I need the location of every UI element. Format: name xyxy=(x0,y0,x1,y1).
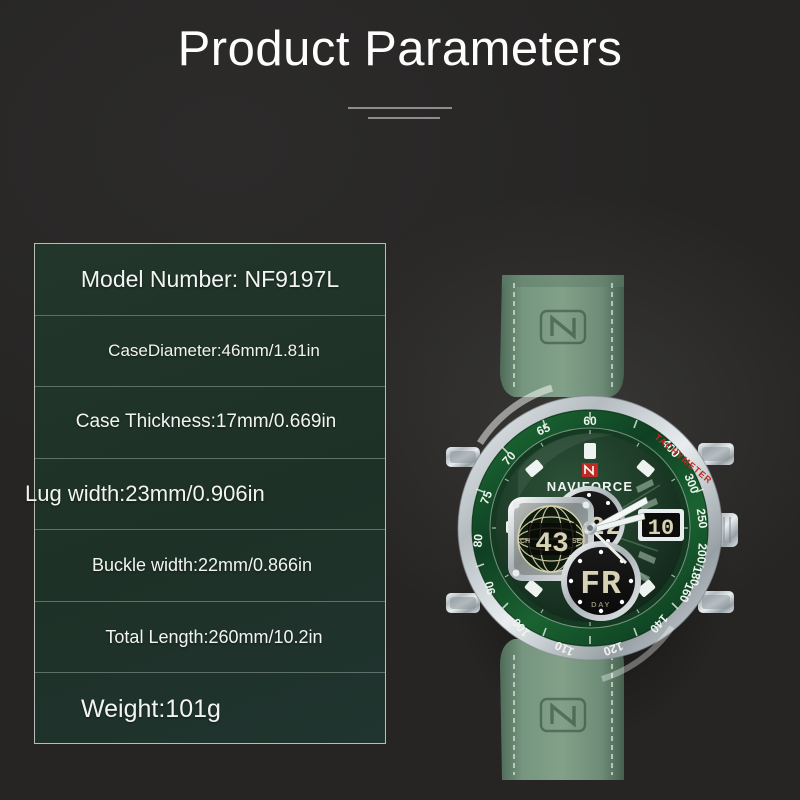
spec-row-case-thickness: Case Thickness:17mm/0.669in xyxy=(35,387,385,459)
spec-label: Total Length:260mm/10.2in xyxy=(105,627,322,648)
spec-label: CaseDiameter:46mm/1.81in xyxy=(108,341,320,361)
digital-day-subdial: FR DAY xyxy=(561,541,641,621)
spec-row-model-number: Model Number: NF9197L xyxy=(35,244,385,316)
svg-text:CH: CH xyxy=(520,538,530,545)
svg-text:250: 250 xyxy=(694,508,711,530)
svg-text:SEC: SEC xyxy=(572,538,586,545)
svg-text:200: 200 xyxy=(694,543,709,564)
spec-label: Model Number: NF9197L xyxy=(81,266,339,293)
svg-text:FR: FR xyxy=(580,566,622,603)
spec-row-weight: Weight:101g xyxy=(35,673,385,745)
specification-panel: Model Number: NF9197L CaseDiameter:46mm/… xyxy=(34,243,386,744)
svg-text:10: 10 xyxy=(648,516,674,541)
spec-label: Case Thickness:17mm/0.669in xyxy=(76,411,337,433)
divider-line-upper xyxy=(348,107,452,109)
svg-text:80: 80 xyxy=(471,533,486,548)
spec-label: Lug width:23mm/0.906in xyxy=(25,481,265,507)
spec-row-lug-width: Lug width:23mm/0.906in xyxy=(35,459,385,531)
spec-row-case-diameter: CaseDiameter:46mm/1.81in xyxy=(35,316,385,388)
spec-row-buckle-width: Buckle width:22mm/0.866in xyxy=(35,530,385,602)
spec-row-total-length: Total Length:260mm/10.2in xyxy=(35,602,385,674)
title-dividers xyxy=(0,104,800,128)
svg-text:DAY: DAY xyxy=(591,600,611,609)
spec-label: Weight:101g xyxy=(81,695,221,724)
svg-text:43: 43 xyxy=(535,529,569,560)
date-window: 10 xyxy=(638,509,684,541)
spec-label: Buckle width:22mm/0.866in xyxy=(92,555,312,576)
page-title: Product Parameters xyxy=(0,24,800,75)
divider-line-lower xyxy=(368,117,440,119)
product-image-watch: 60 65 70 75 80 90 100 110 120 140 160 18… xyxy=(440,275,740,780)
